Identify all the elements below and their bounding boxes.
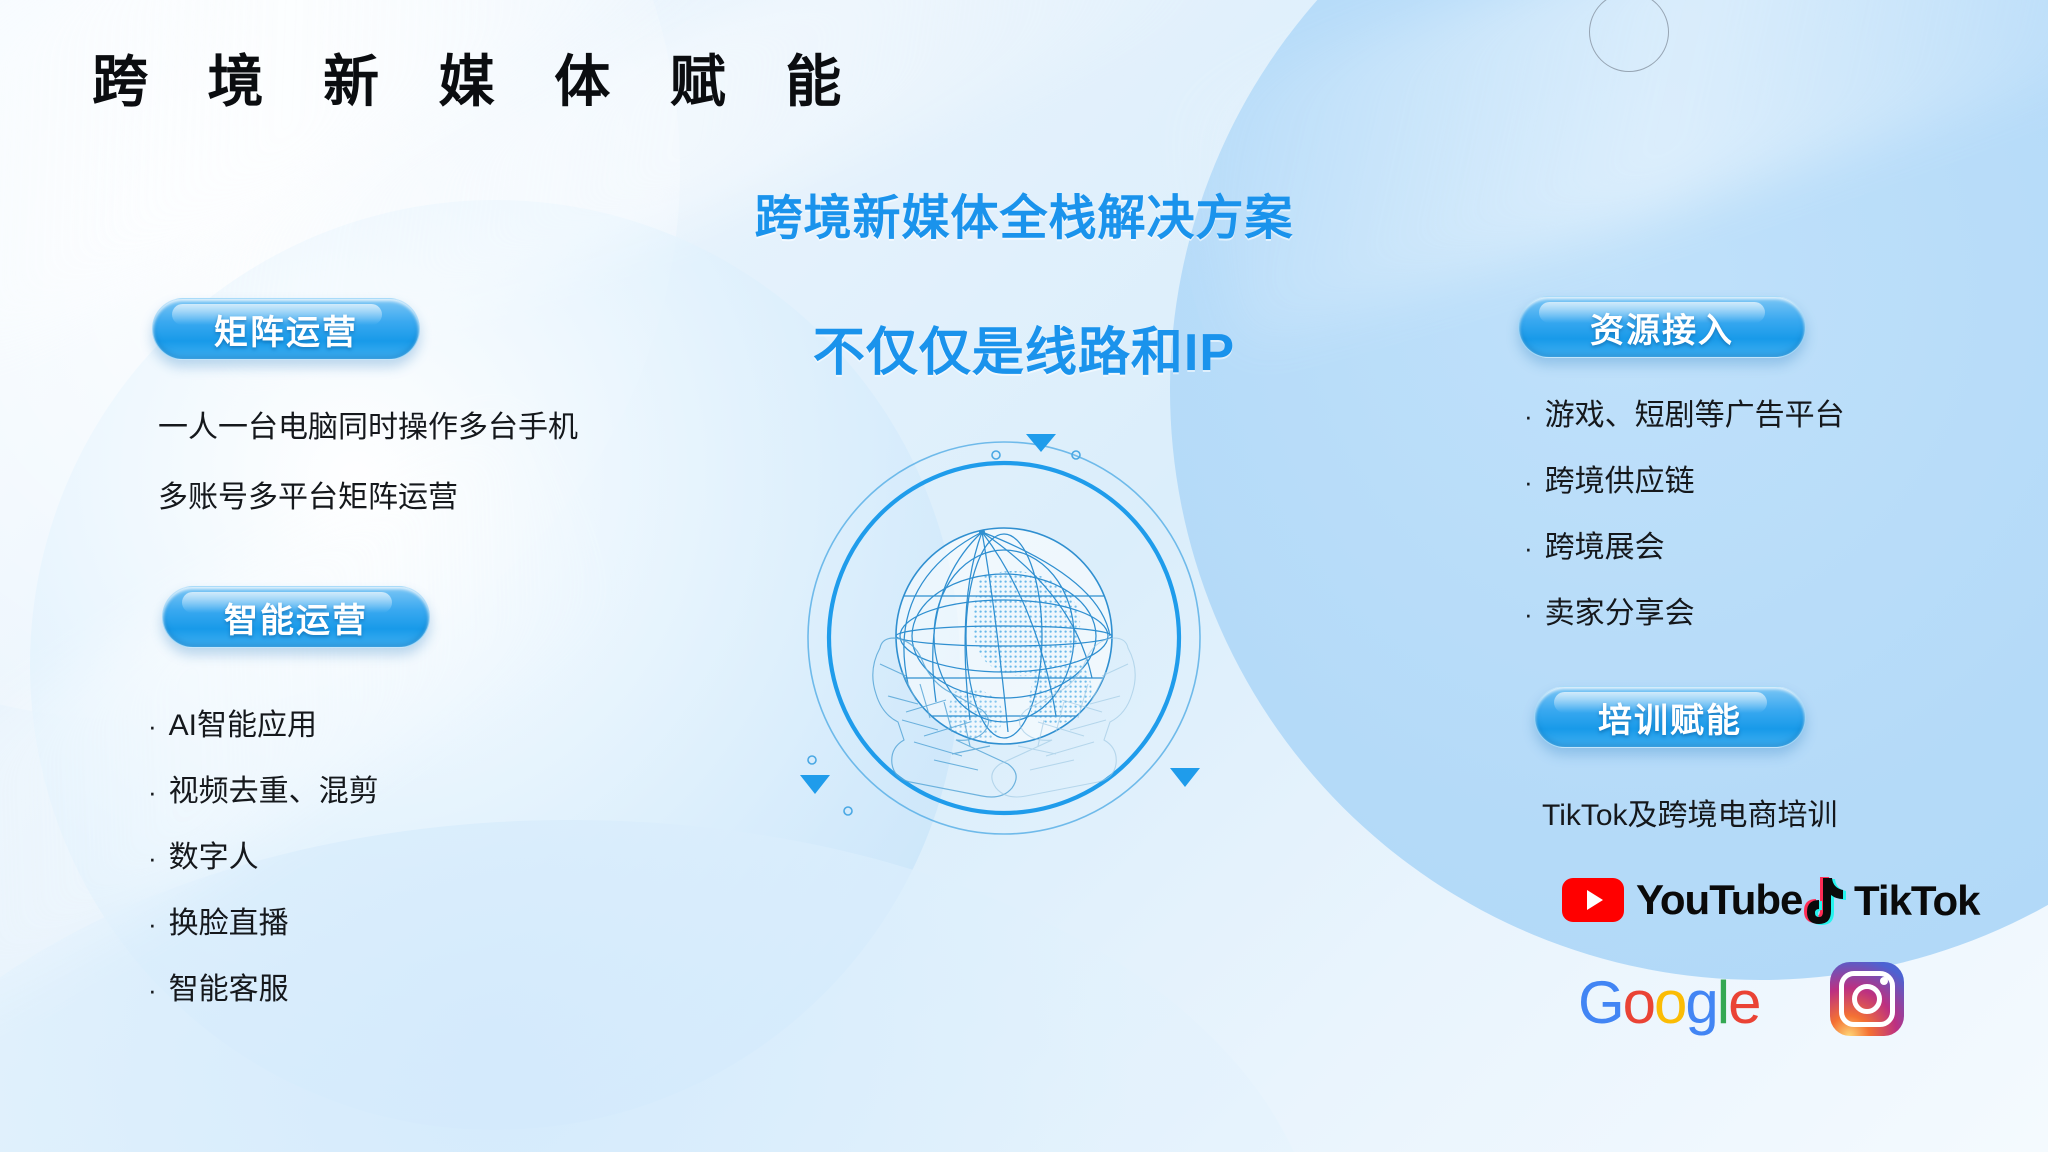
pill-training-empowerment[interactable]: 培训赋能	[1534, 686, 1806, 748]
bullet-dot: ·	[1524, 535, 1533, 561]
page-title: 跨 境 新 媒 体 赋 能	[92, 37, 863, 118]
google-letter-e: e	[1728, 968, 1759, 1037]
list-item-label: 游戏、短剧等广告平台	[1545, 390, 1845, 434]
pill-label: 矩阵运营	[214, 305, 358, 354]
globe-in-hands-illustration	[784, 420, 1224, 860]
list-item-label: 卖家分享会	[1545, 588, 1695, 632]
google-letter-o1: o	[1623, 968, 1654, 1037]
list-item-label: 跨境展会	[1545, 522, 1665, 566]
logo-youtube: YouTube	[1562, 876, 1802, 924]
list-item: · 跨境展会	[1524, 522, 1665, 566]
list-item: · 数字人	[148, 832, 259, 876]
list-item-label: AI智能应用	[169, 700, 317, 744]
list-item-label: 视频去重、混剪	[169, 766, 379, 810]
list-item: · 换脸直播	[148, 898, 289, 942]
list-item: · 视频去重、混剪	[148, 766, 379, 810]
matrix-line-1: 一人一台电脑同时操作多台手机	[158, 402, 578, 446]
pill-label: 培训赋能	[1598, 693, 1742, 742]
matrix-line-2: 多账号多平台矩阵运营	[158, 472, 458, 516]
google-letter-o2: o	[1654, 968, 1685, 1037]
bullet-dot: ·	[1524, 601, 1533, 627]
youtube-wordmark: YouTube	[1636, 876, 1802, 924]
instagram-icon	[1830, 962, 1904, 1036]
list-item-label: 智能客服	[169, 964, 289, 1008]
training-line: TikTok及跨境电商培训	[1542, 790, 1838, 834]
decorative-circle-outline	[1589, 0, 1669, 72]
list-item: · 跨境供应链	[1524, 456, 1695, 500]
tiktok-wordmark: TikTok	[1854, 877, 1979, 925]
pill-resource-access[interactable]: 资源接入	[1518, 296, 1806, 358]
list-item-label: 换脸直播	[169, 898, 289, 942]
youtube-play-icon	[1562, 878, 1624, 922]
google-letter-l: l	[1717, 968, 1728, 1037]
tiktok-note-icon	[1800, 876, 1846, 926]
bullet-dot: ·	[148, 977, 157, 1003]
list-item: · AI智能应用	[148, 700, 317, 744]
logo-google: G o o g l e	[1578, 968, 1760, 1037]
pill-matrix-operations[interactable]: 矩阵运营	[152, 298, 420, 360]
bullet-dot: ·	[1524, 403, 1533, 429]
list-item-label: 跨境供应链	[1545, 456, 1695, 500]
pill-label: 资源接入	[1590, 303, 1734, 352]
logo-instagram	[1830, 962, 1904, 1036]
bullet-dot: ·	[148, 911, 157, 937]
list-item-label: 数字人	[169, 832, 259, 876]
list-item: · 游戏、短剧等广告平台	[1524, 390, 1845, 434]
bullet-dot: ·	[148, 845, 157, 871]
bullet-dot: ·	[148, 713, 157, 739]
bullet-dot: ·	[1524, 469, 1533, 495]
pill-label: 智能运营	[224, 593, 368, 642]
center-heading-primary: 跨境新媒体全栈解决方案	[0, 178, 2048, 248]
slide-canvas: 跨 境 新 媒 体 赋 能 跨境新媒体全栈解决方案 不仅仅是线路和IP	[0, 0, 2048, 1152]
pill-smart-operations[interactable]: 智能运营	[162, 586, 430, 648]
bullet-dot: ·	[148, 779, 157, 805]
list-item: · 卖家分享会	[1524, 588, 1695, 632]
globe-icon	[784, 420, 1224, 860]
google-letter-g1: G	[1578, 968, 1623, 1037]
list-item: · 智能客服	[148, 964, 289, 1008]
logo-tiktok: TikTok	[1800, 876, 1979, 926]
google-letter-g2: g	[1685, 968, 1716, 1037]
